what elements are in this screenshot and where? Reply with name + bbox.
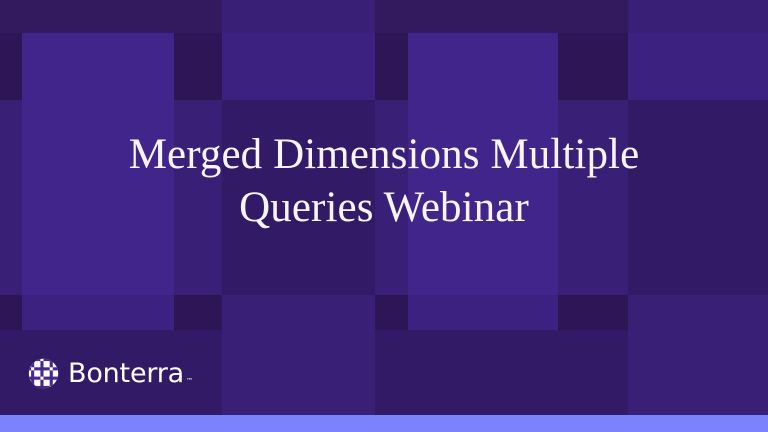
brand-wordmark: Bonterra ™ [68,360,193,387]
background-tile [558,33,628,100]
background-tile [375,295,408,330]
trademark-symbol: ™ [186,378,193,385]
background-tile [558,295,628,330]
background-tile [222,295,375,330]
page-title: Merged Dimensions Multiple Queries Webin… [46,128,722,235]
background-tile [22,295,174,330]
webinar-title-slide: Merged Dimensions Multiple Queries Webin… [0,0,768,432]
brand-name: Bonterra [68,360,184,387]
background-tile [0,295,22,330]
background-tile [375,0,628,33]
background-tile [0,33,22,100]
bonterra-woven-circle-icon [28,358,59,389]
background-tile [222,0,375,33]
background-tile [408,33,558,100]
background-tile [408,295,558,330]
title-line-1: Merged Dimensions Multiple [129,131,640,178]
brand-logo-lockup: Bonterra ™ [28,358,193,389]
background-tile [22,33,174,100]
background-tile [628,33,768,100]
background-tile [628,330,768,415]
background-tile [628,0,768,33]
bottom-accent-bar [0,415,768,432]
background-tile [174,33,222,100]
background-tile [0,0,222,33]
background-tile [375,330,628,415]
background-tile [628,295,768,330]
background-tile [222,33,375,100]
background-tile [222,330,375,415]
background-tile [174,295,222,330]
title-block: Merged Dimensions Multiple Queries Webin… [0,128,768,235]
title-line-2: Queries Webinar [239,184,529,231]
background-tile [375,33,408,100]
